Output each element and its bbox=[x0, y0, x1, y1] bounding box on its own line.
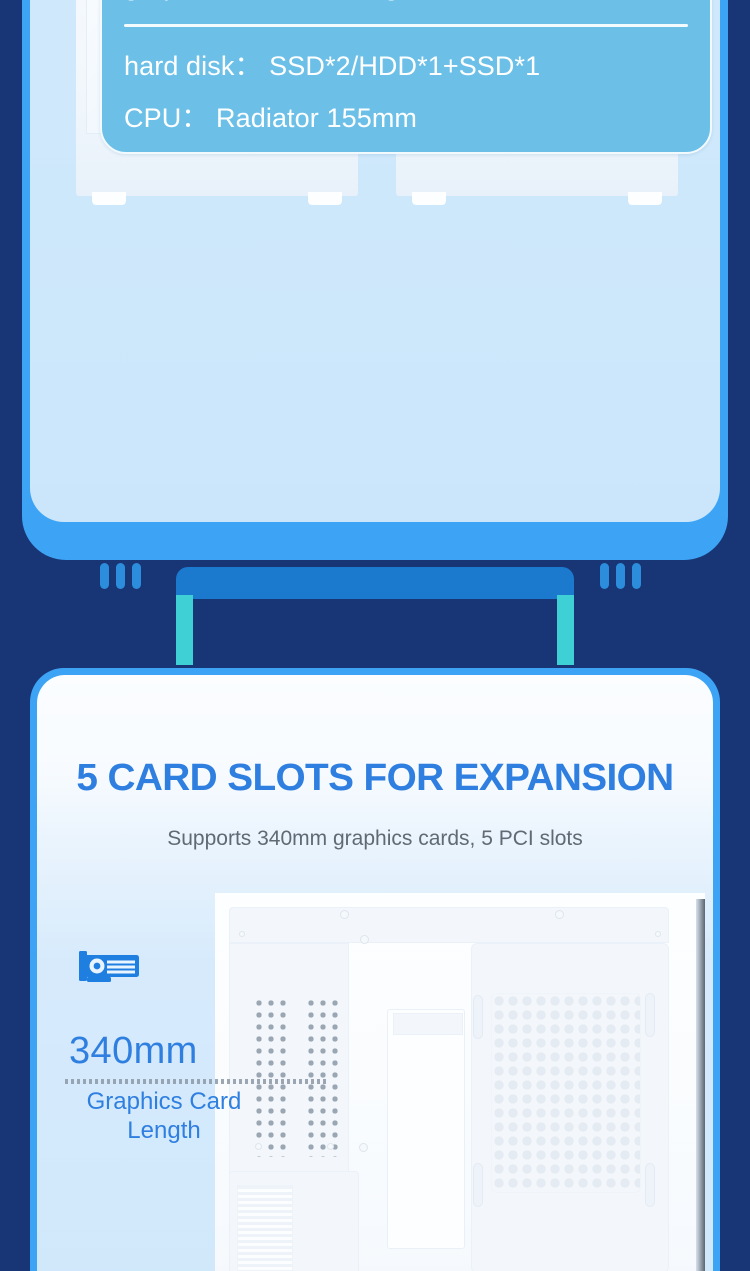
top-spec-card: ITX M-ATX CPU bbox=[22, 0, 728, 560]
spec-row-cpu: CPU： Radiator 155mm bbox=[124, 96, 417, 135]
connector-bar bbox=[176, 567, 574, 599]
vent-group-right bbox=[600, 563, 641, 589]
page-title: 5 CARD SLOTS FOR EXPANSION bbox=[37, 757, 713, 800]
graphics-card-icon bbox=[77, 947, 143, 989]
vent-slot-icon bbox=[616, 563, 625, 589]
spec-value-cpu: Radiator 155mm bbox=[216, 103, 417, 133]
spec-bubble: motherboard： M-ATX/Mini-ITX graphics boa… bbox=[100, 0, 712, 154]
measurement-label-line-2: Length bbox=[69, 1116, 259, 1145]
connector-leg-right bbox=[557, 595, 574, 665]
top-card-inner: ITX M-ATX CPU bbox=[30, 0, 720, 522]
connector-leg-left bbox=[176, 595, 193, 665]
vent-slot-icon bbox=[600, 563, 609, 589]
vent-slot-icon bbox=[116, 563, 125, 589]
vent-slot-icon bbox=[100, 563, 109, 589]
spec-row-graphics: graphics board： Length limit 340mm bbox=[124, 0, 576, 3]
spec-label-harddisk: hard disk： bbox=[124, 51, 262, 81]
spec-label-cpu: CPU： bbox=[124, 103, 208, 133]
measurement-dashed-line bbox=[65, 1079, 327, 1084]
measurement-label-line-1: Graphics Card bbox=[69, 1087, 259, 1116]
spec-value-harddisk: SSD*2/HDD*1+SSD*1 bbox=[269, 51, 540, 81]
page-subtitle: Supports 340mm graphics cards, 5 PCI slo… bbox=[37, 827, 713, 851]
spec-value-graphics: Length limit 340mm bbox=[339, 0, 576, 1]
spec-label-graphics: graphics board： bbox=[124, 0, 331, 1]
vent-group-left bbox=[100, 563, 141, 589]
expansion-slots-card: 5 CARD SLOTS FOR EXPANSION Supports 340m… bbox=[30, 668, 720, 1271]
vent-slot-icon bbox=[632, 563, 641, 589]
measurement-value: 340mm bbox=[69, 1030, 198, 1073]
expansion-card-inner: 5 CARD SLOTS FOR EXPANSION Supports 340m… bbox=[37, 675, 713, 1271]
spec-divider bbox=[124, 24, 688, 27]
case-edge bbox=[696, 899, 705, 1271]
spec-row-harddisk: hard disk： SSD*2/HDD*1+SSD*1 bbox=[124, 44, 540, 83]
vent-slot-icon bbox=[132, 563, 141, 589]
measurement-label: Graphics Card Length bbox=[69, 1087, 259, 1146]
product-detail-page: ITX M-ATX CPU bbox=[0, 0, 750, 1271]
